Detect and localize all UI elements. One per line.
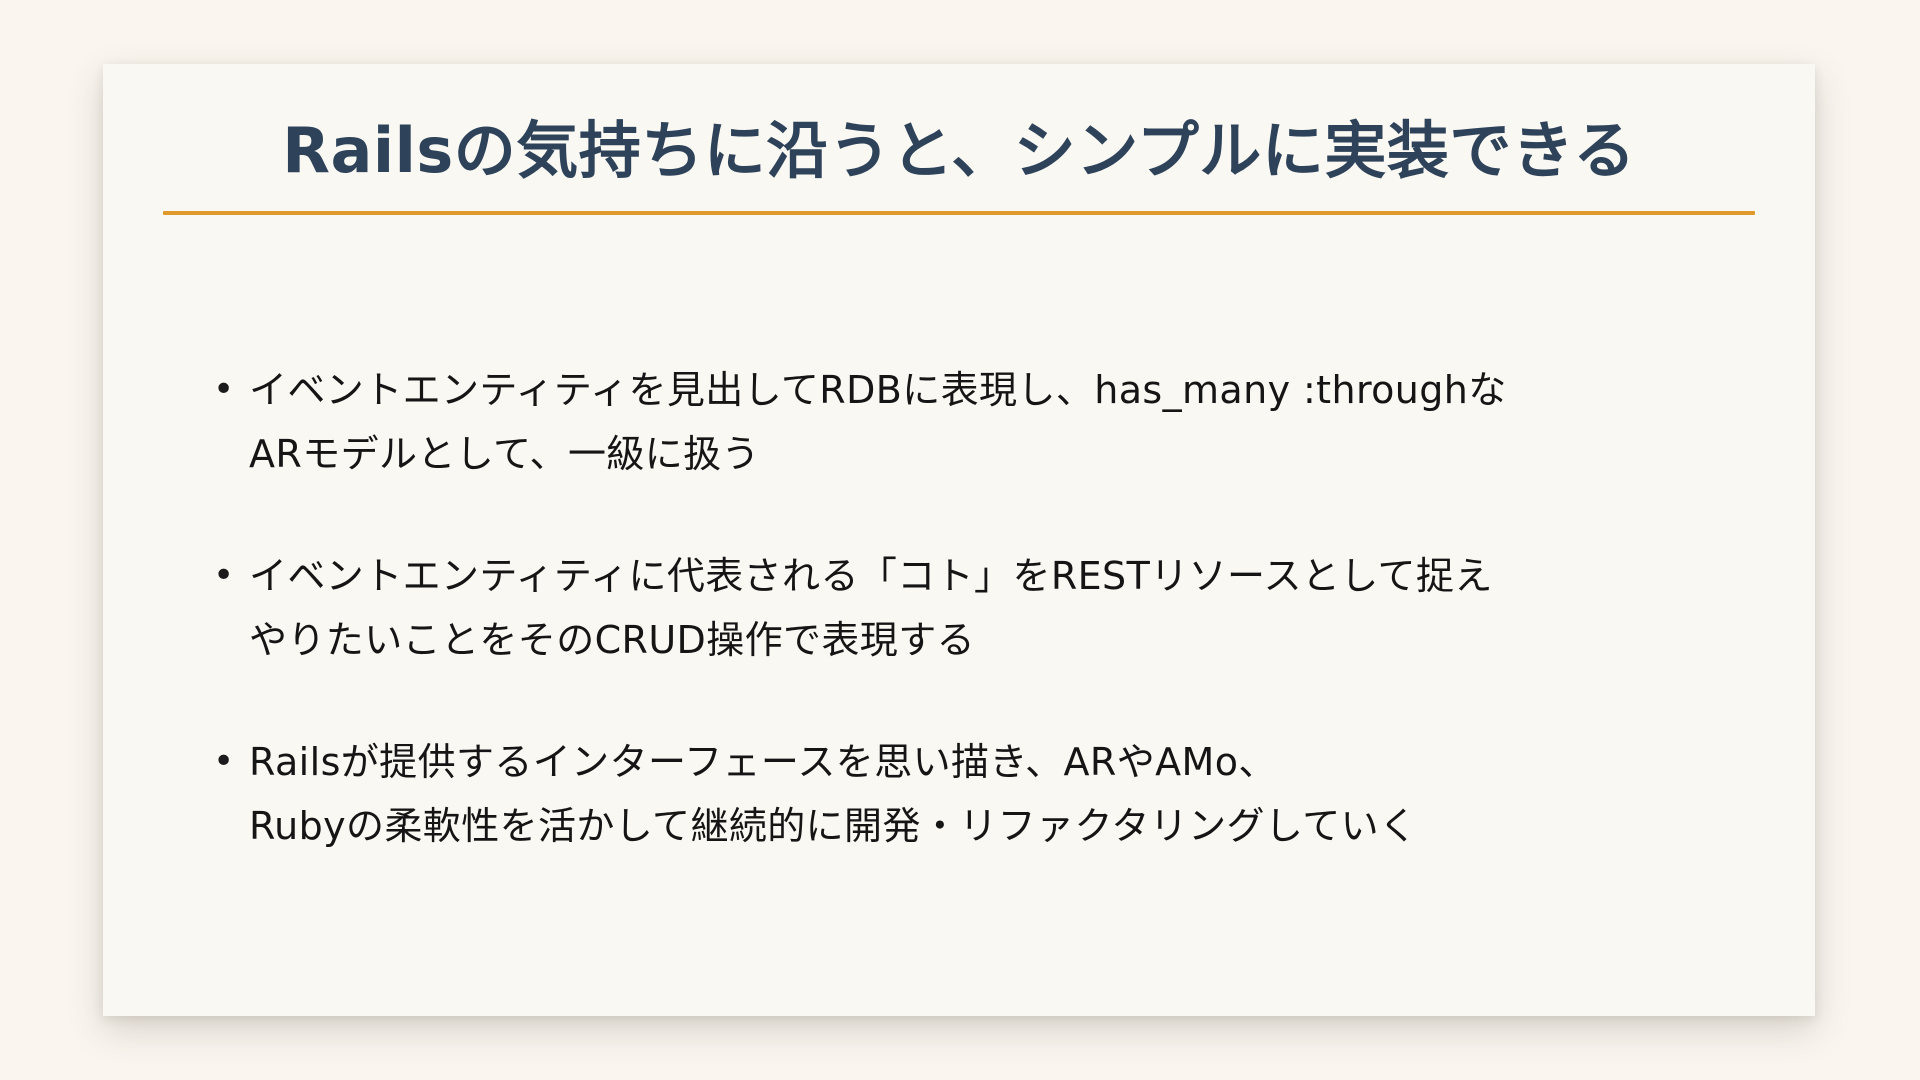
bullet-text: イベントエンティティを見出してRDBに表現し、has_many :through… xyxy=(249,358,1755,486)
slide-title-block: Railsの気持ちに沿うと、シンプルに実装できる xyxy=(155,100,1763,215)
slide-card: Railsの気持ちに沿うと、シンプルに実装できる • イベントエンティティを見出… xyxy=(103,64,1815,1016)
bullet-marker-icon: • xyxy=(207,730,249,794)
bullet-text: イベントエンティティに代表される「コト」をRESTリソースとして捉え やりたいこ… xyxy=(249,544,1755,672)
slide-stage: Railsの気持ちに沿うと、シンプルに実装できる • イベントエンティティを見出… xyxy=(0,0,1920,1080)
bullet-marker-icon: • xyxy=(207,358,249,422)
page-title: Railsの気持ちに沿うと、シンプルに実装できる xyxy=(155,100,1763,197)
bullet-line: イベントエンティティを見出してRDBに表現し、has_many :through… xyxy=(249,358,1755,422)
bullet-marker-icon: • xyxy=(207,544,249,608)
list-item: • Railsが提供するインターフェースを思い描き、ARやAMo、 Rubyの柔… xyxy=(207,730,1755,858)
bullet-list: • イベントエンティティを見出してRDBに表現し、has_many :throu… xyxy=(207,358,1755,858)
title-divider xyxy=(163,211,1755,215)
bullet-line: やりたいことをそのCRUD操作で表現する xyxy=(249,608,1755,672)
bullet-text: Railsが提供するインターフェースを思い描き、ARやAMo、 Rubyの柔軟性… xyxy=(249,730,1755,858)
list-item: • イベントエンティティに代表される「コト」をRESTリソースとして捉え やりた… xyxy=(207,544,1755,672)
bullet-line: Rubyの柔軟性を活かして継続的に開発・リファクタリングしていく xyxy=(249,794,1755,858)
bullet-line: ARモデルとして、一級に扱う xyxy=(249,422,1755,486)
list-item: • イベントエンティティを見出してRDBに表現し、has_many :throu… xyxy=(207,358,1755,486)
bullet-line: Railsが提供するインターフェースを思い描き、ARやAMo、 xyxy=(249,730,1755,794)
bullet-line: イベントエンティティに代表される「コト」をRESTリソースとして捉え xyxy=(249,544,1755,608)
